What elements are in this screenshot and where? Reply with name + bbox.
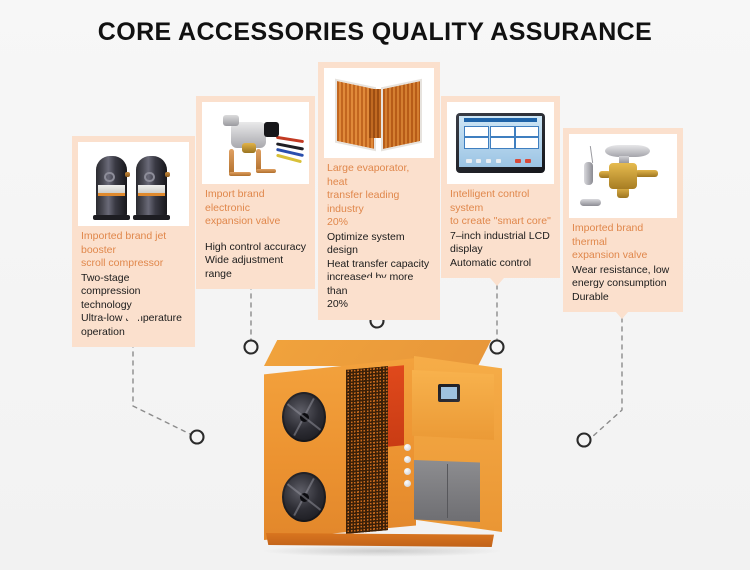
card-body: Two-stage compression technology Ultra-l… bbox=[81, 272, 186, 340]
card-pointer-evaporator bbox=[364, 278, 390, 293]
card-headline: Imported brand jet booster scroll compre… bbox=[81, 230, 186, 271]
card-headline: Large evaporator, heat transfer leading … bbox=[327, 162, 431, 230]
service-access-door bbox=[414, 460, 480, 522]
machine-lcd-screen bbox=[438, 384, 460, 402]
control-panel-box bbox=[412, 370, 494, 440]
electronic-expansion-valve-photo bbox=[202, 102, 309, 184]
card-headline: Intelligent control system to create "sm… bbox=[450, 188, 551, 229]
card-pointer-compressor bbox=[120, 311, 146, 326]
card-body: Wear resistance, low energy consumption … bbox=[572, 264, 674, 305]
card-headline: Imported brand thermal expansion valve bbox=[572, 222, 674, 263]
industrial-heat-pump-dryer bbox=[258, 340, 506, 555]
fan-upper bbox=[282, 392, 326, 442]
card-pointer-tev bbox=[609, 304, 635, 319]
scroll-compressor-pair-photo bbox=[78, 142, 189, 226]
card-headline: Import brand electronic expansion valve bbox=[205, 188, 306, 229]
card-body: Optimize system design Heat transfer cap… bbox=[327, 231, 431, 312]
card-intelligent-control-system[interactable]: Intelligent control system to create "sm… bbox=[441, 96, 560, 278]
card-pointer-eev bbox=[238, 271, 264, 286]
card-body: 7–inch industrial LCD display Automatic … bbox=[450, 230, 551, 271]
infographic-canvas: CORE ACCESSORIES QUALITY ASSURANCE Impor bbox=[0, 0, 750, 570]
marker-compressor bbox=[191, 431, 204, 444]
card-thermal-expansion-valve[interactable]: Imported brand thermal expansion valve W… bbox=[563, 128, 683, 312]
thermal-expansion-valve-photo bbox=[569, 134, 677, 218]
marker-tev bbox=[578, 434, 591, 447]
industrial-lcd-controller-photo bbox=[447, 102, 554, 184]
connector-path-tev bbox=[592, 318, 622, 437]
fan-lower bbox=[282, 472, 326, 522]
card-electronic-expansion-valve[interactable]: Import brand electronic expansion valve … bbox=[196, 96, 315, 289]
card-pointer-controller bbox=[484, 271, 510, 286]
marker-eev bbox=[245, 341, 258, 354]
evaporator-fin-coil-photo bbox=[324, 68, 434, 158]
